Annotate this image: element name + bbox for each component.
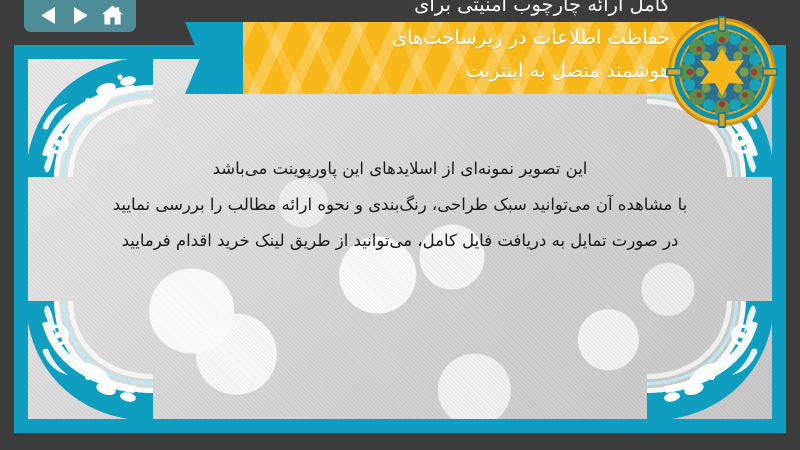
home-button[interactable] bbox=[99, 3, 125, 27]
slide-content-area: این تصویر نمونه‌ای از اسلایدهای این پاور… bbox=[28, 59, 772, 419]
ornament-corner-bottom-right bbox=[647, 301, 772, 419]
persian-medallion-ornament bbox=[666, 16, 778, 128]
home-icon bbox=[101, 5, 124, 26]
presentation-viewer: این تصویر نمونه‌ای از اسلایدهای این پاور… bbox=[0, 0, 800, 450]
triangle-right-icon bbox=[72, 6, 89, 25]
slide-navigation-bar bbox=[24, 0, 136, 32]
title-line-2: حفاظت اطلاعات در زیرساخت‌های bbox=[220, 21, 670, 54]
title-line-3: هوشمند متصل به اینترنت bbox=[220, 54, 670, 87]
previous-slide-button[interactable] bbox=[35, 3, 61, 27]
body-line-3: در صورت تمایل به دریافت فایل کامل، می‌تو… bbox=[88, 223, 712, 259]
body-line-1: این تصویر نمونه‌ای از اسلایدهای این پاور… bbox=[88, 151, 712, 187]
ornament-corner-bottom-left bbox=[28, 301, 153, 419]
next-slide-button[interactable] bbox=[67, 3, 93, 27]
triangle-left-icon bbox=[40, 6, 57, 25]
title-line-1: کامل ارائه چارچوب امنیتی برای bbox=[220, 0, 670, 21]
slide-title: کامل ارائه چارچوب امنیتی برای حفاظت اطلا… bbox=[220, 0, 670, 87]
slide-body-text: این تصویر نمونه‌ای از اسلایدهای این پاور… bbox=[88, 151, 712, 259]
body-line-2: با مشاهده آن می‌توانید سبک طراحی، رنگ‌بن… bbox=[88, 187, 712, 223]
